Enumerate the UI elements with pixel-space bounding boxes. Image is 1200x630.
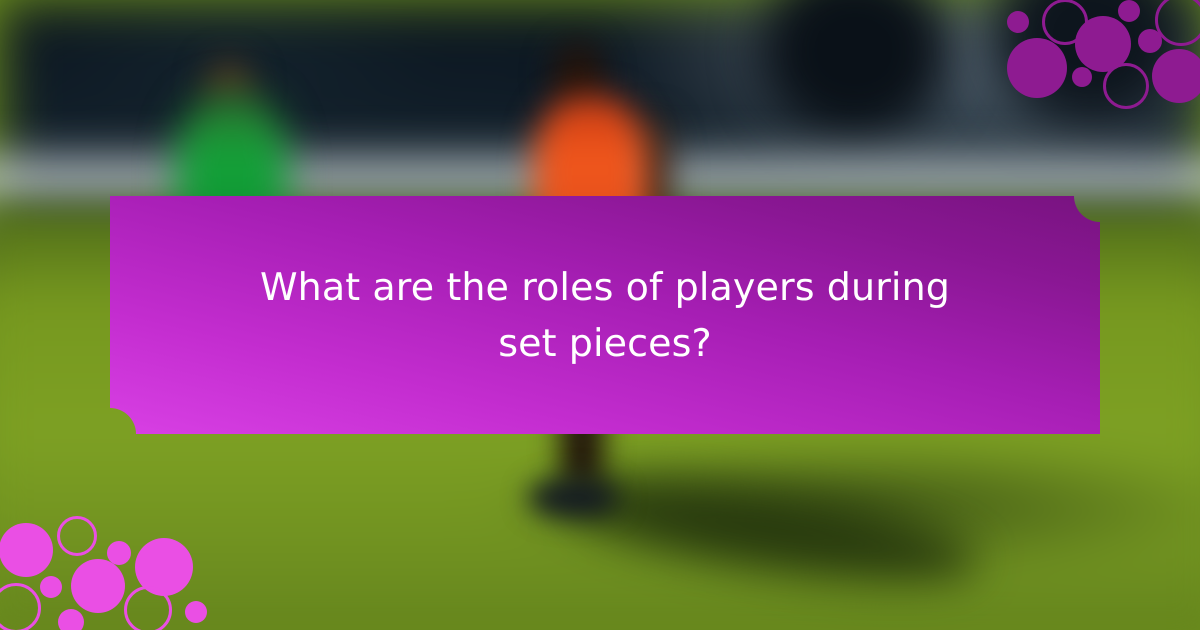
decor-circle	[1007, 11, 1029, 33]
title-banner: What are the roles of players during set…	[110, 196, 1100, 434]
decor-circle	[1118, 0, 1140, 22]
decor-circle	[1152, 49, 1200, 103]
decor-circle	[57, 516, 97, 556]
decor-circles-top-right	[990, 0, 1200, 125]
decor-circle	[1072, 67, 1092, 87]
decor-circle	[0, 583, 41, 630]
decor-circle	[1007, 38, 1067, 98]
decor-circle	[40, 576, 62, 598]
poster-card: What are the roles of players during set…	[0, 0, 1200, 630]
decor-circles-bottom-left	[0, 510, 225, 630]
decor-circle	[71, 559, 125, 613]
decor-circle	[1103, 63, 1149, 109]
runner-boot-blur	[528, 478, 620, 518]
banner-title-text: What are the roles of players during set…	[235, 259, 975, 371]
decor-circle	[124, 586, 172, 630]
decor-circle	[185, 601, 207, 623]
decor-circle	[58, 609, 84, 630]
decor-circle	[1138, 29, 1162, 53]
decor-circle	[0, 523, 53, 577]
